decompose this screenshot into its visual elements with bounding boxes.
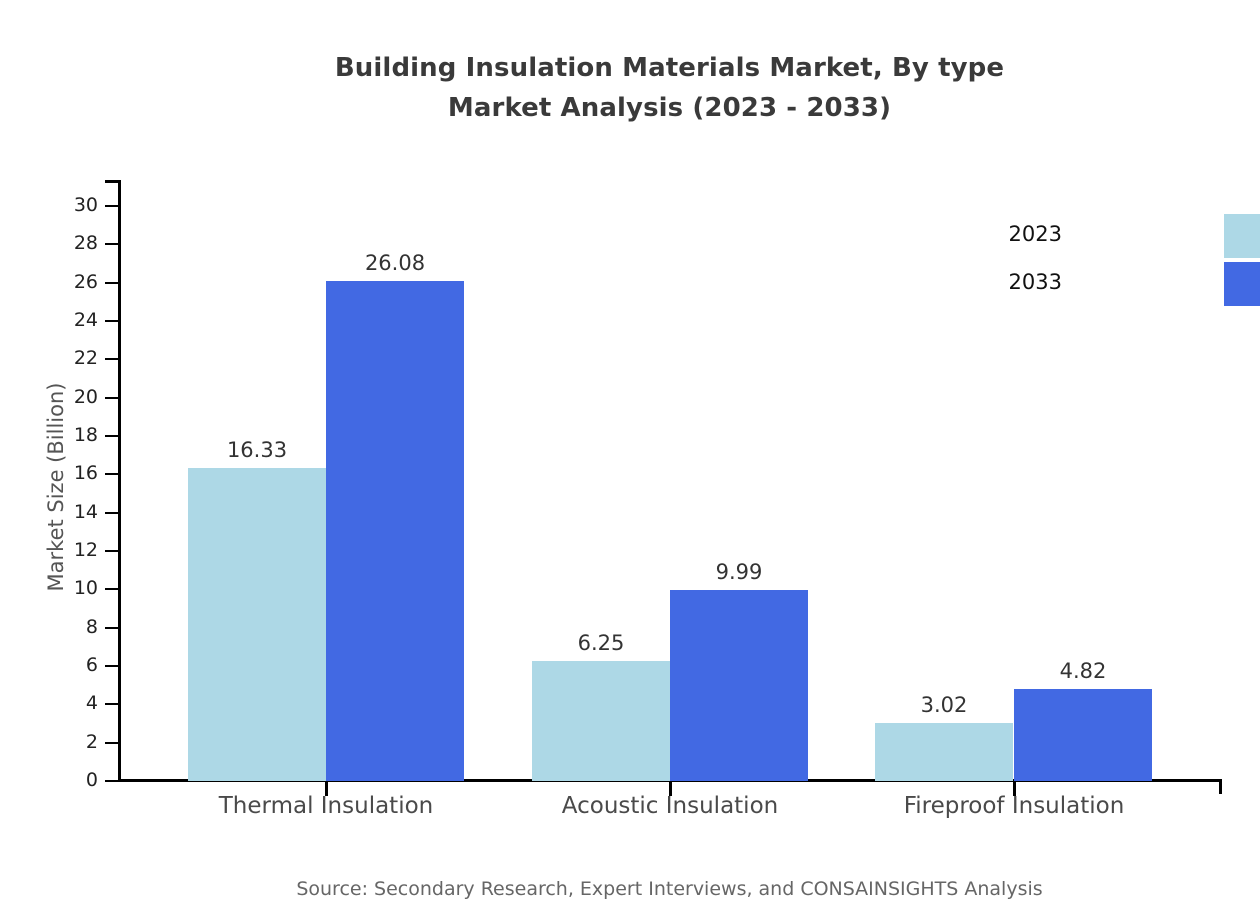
title-line-2: Market Analysis (2023 - 2033) bbox=[0, 88, 1260, 128]
y-tick-label: 24 bbox=[38, 311, 98, 330]
y-tick-label: 14 bbox=[38, 503, 98, 522]
bar-2033-acoustic-insulation[interactable] bbox=[670, 590, 808, 781]
y-tick-mark bbox=[105, 282, 119, 284]
y-tick-mark bbox=[105, 742, 119, 744]
y-tick-label: 12 bbox=[38, 541, 98, 560]
bar-value-label: 4.82 bbox=[1014, 661, 1152, 682]
y-tick-label: 2 bbox=[38, 733, 98, 752]
y-tick-label: 20 bbox=[38, 388, 98, 407]
legend-swatch bbox=[1224, 262, 1260, 306]
bar-2023-fireproof-insulation[interactable] bbox=[875, 723, 1013, 781]
y-tick-mark bbox=[105, 627, 119, 629]
source-note: Source: Secondary Research, Expert Inter… bbox=[0, 878, 1260, 900]
legend-swatch bbox=[1224, 214, 1260, 258]
y-tick-label: 18 bbox=[38, 426, 98, 445]
y-tick-mark bbox=[105, 588, 119, 590]
y-tick-label: 16 bbox=[38, 464, 98, 483]
bar-value-label: 9.99 bbox=[670, 562, 808, 583]
page-title: Building Insulation Materials Market, By… bbox=[0, 48, 1260, 128]
bar-value-label: 6.25 bbox=[532, 633, 670, 654]
y-tick-mark bbox=[105, 243, 119, 245]
y-tick-label: 0 bbox=[38, 771, 98, 790]
legend-label: 2033 bbox=[972, 272, 1062, 293]
y-tick-label: 6 bbox=[38, 656, 98, 675]
x-axis-right-cap bbox=[1219, 779, 1222, 794]
y-tick-label: 26 bbox=[38, 273, 98, 292]
y-axis-top-cap bbox=[105, 180, 121, 183]
legend-label: 2023 bbox=[972, 224, 1062, 245]
y-tick-label: 22 bbox=[38, 349, 98, 368]
y-tick-mark bbox=[105, 358, 119, 360]
bar-value-label: 3.02 bbox=[875, 695, 1013, 716]
title-line-1: Building Insulation Materials Market, By… bbox=[0, 48, 1260, 88]
bar-2023-thermal-insulation[interactable] bbox=[188, 468, 326, 781]
bar-2033-fireproof-insulation[interactable] bbox=[1014, 689, 1152, 781]
y-tick-mark bbox=[105, 320, 119, 322]
bar-2033-thermal-insulation[interactable] bbox=[326, 281, 464, 781]
bar-value-label: 26.08 bbox=[326, 253, 464, 274]
y-tick-label: 28 bbox=[38, 234, 98, 253]
y-tick-mark bbox=[105, 473, 119, 475]
y-tick-mark bbox=[105, 703, 119, 705]
y-tick-mark bbox=[105, 665, 119, 667]
y-tick-mark bbox=[105, 780, 119, 782]
y-tick-mark bbox=[105, 435, 119, 437]
y-tick-mark bbox=[105, 512, 119, 514]
y-tick-mark bbox=[105, 550, 119, 552]
y-tick-mark bbox=[105, 205, 119, 207]
y-tick-mark bbox=[105, 397, 119, 399]
y-tick-label: 10 bbox=[38, 579, 98, 598]
x-category-label: Fireproof Insulation bbox=[804, 793, 1224, 819]
bar-2023-acoustic-insulation[interactable] bbox=[532, 661, 670, 781]
bar-value-label: 16.33 bbox=[188, 440, 326, 461]
y-tick-label: 30 bbox=[38, 196, 98, 215]
y-tick-label: 4 bbox=[38, 694, 98, 713]
y-tick-label: 8 bbox=[38, 618, 98, 637]
